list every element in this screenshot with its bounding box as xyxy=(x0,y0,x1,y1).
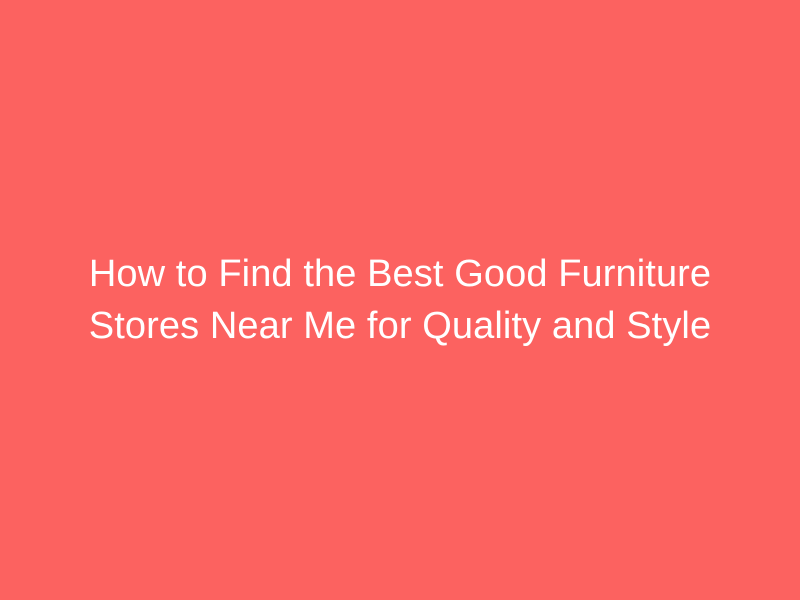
hero-title-container: How to Find the Best Good Furniture Stor… xyxy=(70,248,730,352)
page-title: How to Find the Best Good Furniture Stor… xyxy=(70,248,730,352)
hero-card: How to Find the Best Good Furniture Stor… xyxy=(0,0,800,600)
